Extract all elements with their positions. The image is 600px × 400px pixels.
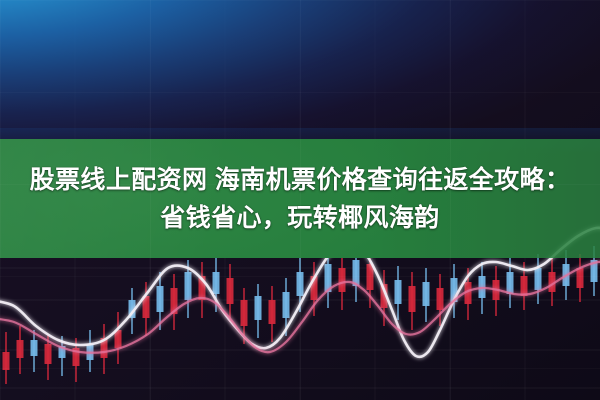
blue-gradient-glow — [0, 0, 600, 145]
headline-line-1: 股票线上配资网 海南机票价格查询往返全攻略： — [30, 163, 571, 197]
headline-block: 股票线上配资网 海南机票价格查询往返全攻略： 省钱省心，玩转椰风海韵 — [0, 139, 600, 258]
promo-banner: 股票线上配资网 海南机票价格查询往返全攻略： 省钱省心，玩转椰风海韵 — [0, 0, 600, 400]
headline-line-2: 省钱省心，玩转椰风海韵 — [160, 201, 439, 235]
